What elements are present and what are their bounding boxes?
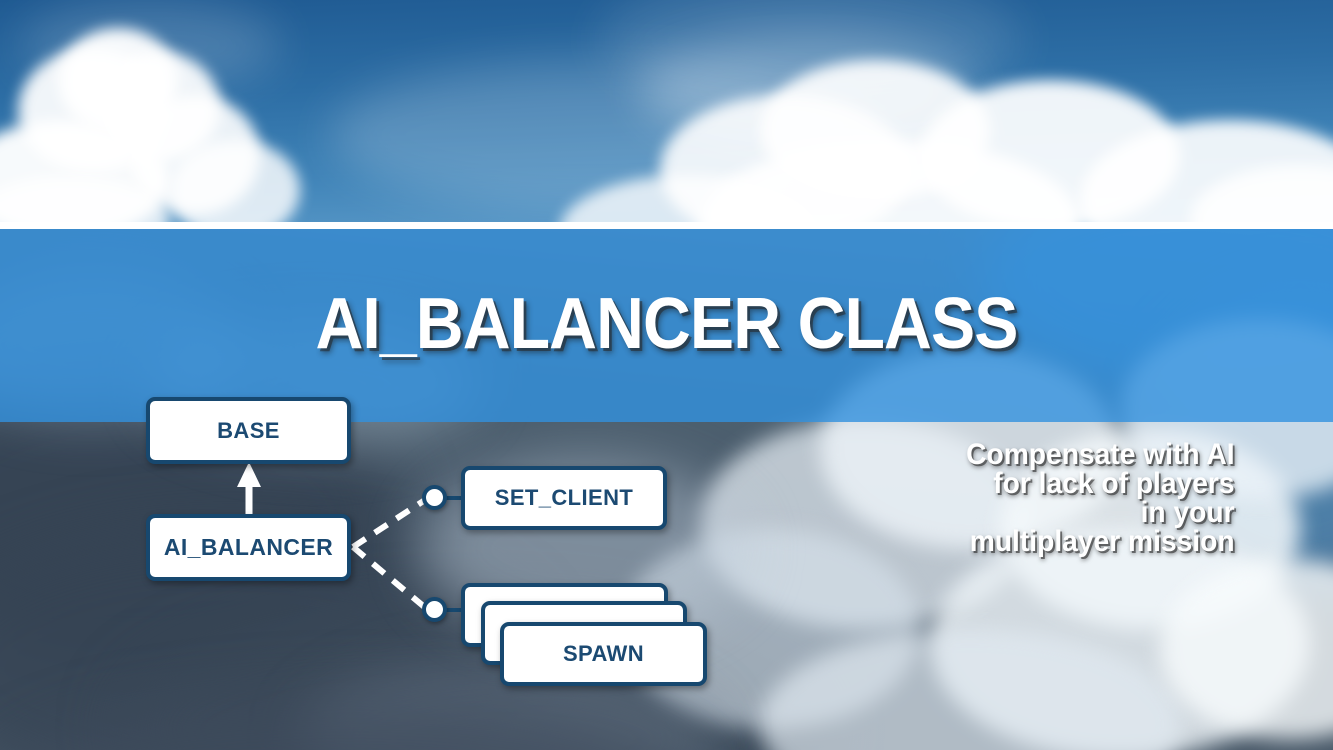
inheritance-arrow-icon [237,462,261,514]
slide-canvas: AI_BALANCER CLASS Compensate with AI for… [0,0,1333,750]
connector-circle-set-client-icon[interactable] [422,485,447,510]
class-node-spawn[interactable]: SPAWN [500,622,707,686]
association-line-set-client [353,498,428,547]
connector-circle-spawn-icon[interactable] [422,597,447,622]
class-node-set-client[interactable]: SET_CLIENT [461,466,667,530]
class-node-ai-balancer[interactable]: AI_BALANCER [146,514,351,581]
class-node-base[interactable]: BASE [146,397,351,464]
association-line-spawn [353,547,428,610]
